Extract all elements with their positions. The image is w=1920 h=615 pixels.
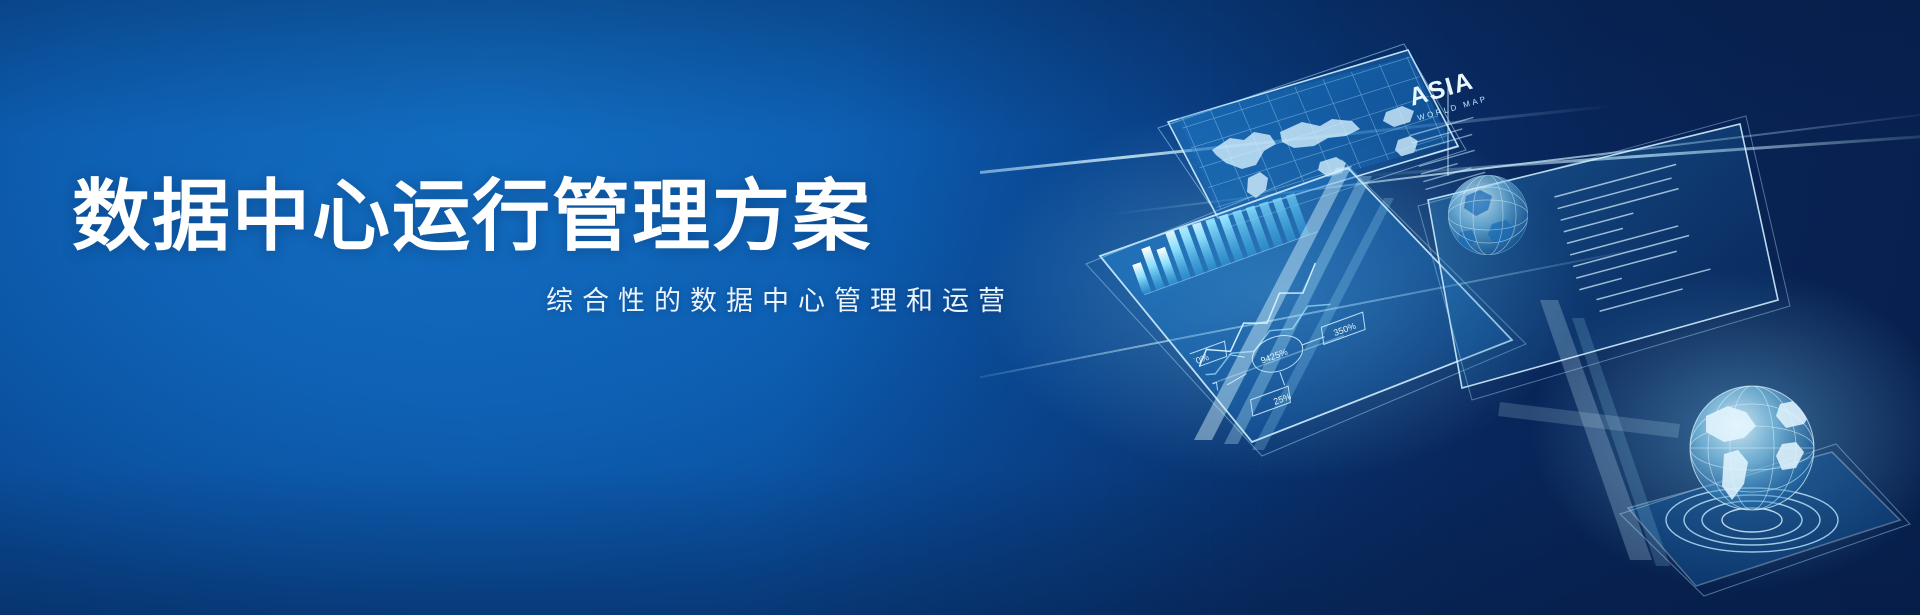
page-title: 数据中心运行管理方案 (72, 176, 1032, 257)
globe-sphere (1690, 386, 1814, 510)
hero-banner: 数据中心运行管理方案 综合性的数据中心管理和运营 (0, 0, 1920, 615)
hologram-artwork: ASIA WORLD MAP (980, 0, 1920, 615)
panel-globe-icon (1448, 175, 1528, 255)
banner-copy-block: 数据中心运行管理方案 综合性的数据中心管理和运营 (72, 176, 1032, 318)
page-subtitle: 综合性的数据中心管理和运营 (72, 279, 1032, 318)
